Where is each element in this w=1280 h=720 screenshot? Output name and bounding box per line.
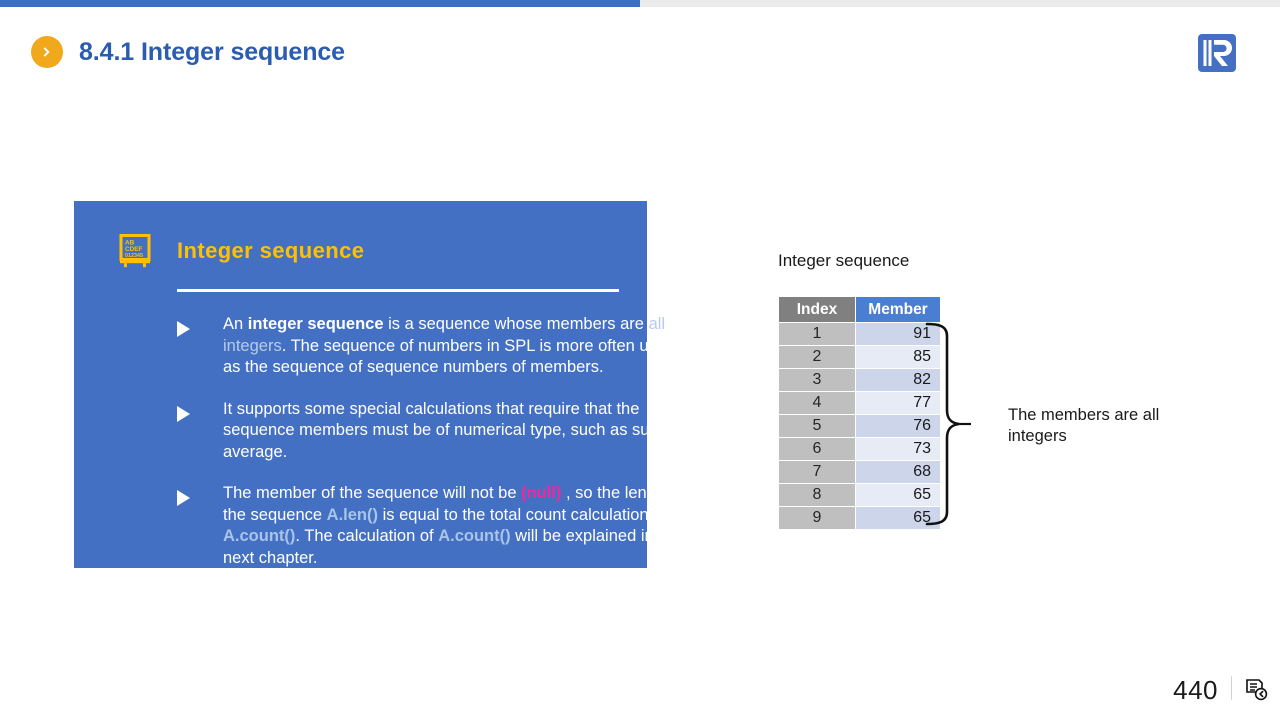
bullet-text-fragment: . The sequence of numbers in SPL is more… bbox=[223, 337, 675, 377]
table-row: 673 bbox=[779, 438, 941, 461]
column-header-index: Index bbox=[779, 297, 856, 323]
concept-card: AB CDEF 012345 Integer sequence An integ… bbox=[74, 201, 647, 568]
slide-progress-track bbox=[0, 0, 1280, 7]
cell-index: 2 bbox=[779, 346, 856, 369]
annotation-text: The members are all integers bbox=[1008, 405, 1193, 447]
illustration-caption: Integer sequence bbox=[778, 251, 909, 271]
table-row: 382 bbox=[779, 369, 941, 392]
page-title: 8.4.1 Integer sequence bbox=[79, 38, 345, 67]
bullet-text-fragment: An bbox=[223, 315, 248, 333]
concept-bullet-text: An integer sequence is a sequence whose … bbox=[223, 314, 689, 379]
cell-index: 5 bbox=[779, 415, 856, 438]
chevron-right-circle-icon bbox=[31, 36, 63, 68]
cell-index: 3 bbox=[779, 369, 856, 392]
table-row: 865 bbox=[779, 484, 941, 507]
table-row: 768 bbox=[779, 461, 941, 484]
concept-bullet: An integer sequence is a sequence whose … bbox=[177, 314, 689, 379]
column-header-member: Member bbox=[856, 297, 941, 323]
svg-text:012345: 012345 bbox=[125, 253, 143, 259]
cell-index: 8 bbox=[779, 484, 856, 507]
board-abc-icon: AB CDEF 012345 bbox=[117, 234, 155, 268]
bullet-text-fragment: integer sequence bbox=[248, 315, 384, 333]
cell-index: 9 bbox=[779, 507, 856, 530]
concept-bullet-list: An integer sequence is a sequence whose … bbox=[177, 314, 689, 569]
concept-card-title: Integer sequence bbox=[177, 238, 364, 264]
bullet-text-fragment: is equal to the total count calculation bbox=[378, 506, 649, 524]
cell-index: 4 bbox=[779, 392, 856, 415]
table-row: 576 bbox=[779, 415, 941, 438]
concept-bullet-text: The member of the sequence will not be (… bbox=[223, 483, 689, 569]
sequence-table: Index Member 191285382477576673768865965 bbox=[778, 296, 941, 530]
page-number: 440 bbox=[1173, 675, 1218, 706]
bullet-text-fragment: It supports some special calculations th… bbox=[223, 400, 682, 461]
bullet-text-fragment: The member of the sequence will not be bbox=[223, 484, 521, 502]
bullet-text-fragment: A.count() bbox=[223, 527, 295, 545]
footer-divider bbox=[1231, 676, 1232, 700]
bullet-text-fragment: is a sequence whose members are bbox=[384, 315, 649, 333]
bullet-text-fragment: A.len() bbox=[327, 506, 378, 524]
triangle-right-icon bbox=[177, 406, 190, 422]
concept-card-divider bbox=[177, 289, 619, 292]
triangle-right-icon bbox=[177, 490, 190, 506]
concept-bullet-text: It supports some special calculations th… bbox=[223, 399, 689, 464]
table-header-row: Index Member bbox=[779, 297, 941, 323]
concept-card-header: AB CDEF 012345 Integer sequence bbox=[74, 201, 647, 268]
curly-brace-icon bbox=[925, 322, 971, 526]
cell-index: 1 bbox=[779, 323, 856, 346]
document-back-icon[interactable] bbox=[1244, 678, 1268, 702]
cell-index: 7 bbox=[779, 461, 856, 484]
bullet-text-fragment: . The calculation of bbox=[295, 527, 438, 545]
svg-text:CDEF: CDEF bbox=[125, 246, 142, 253]
bullet-text-fragment: (null) bbox=[521, 484, 561, 502]
table-row: 285 bbox=[779, 346, 941, 369]
table-row: 965 bbox=[779, 507, 941, 530]
slide-progress-fill bbox=[0, 0, 640, 7]
table-row: 477 bbox=[779, 392, 941, 415]
bullet-text-fragment: A.count() bbox=[438, 527, 510, 545]
slide-title: 8.4.1 Integer sequence bbox=[31, 36, 345, 68]
cell-index: 6 bbox=[779, 438, 856, 461]
raqsoft-r-logo bbox=[1195, 31, 1239, 75]
concept-bullet: The member of the sequence will not be (… bbox=[177, 483, 689, 569]
concept-bullet: It supports some special calculations th… bbox=[177, 399, 689, 464]
table-row: 191 bbox=[779, 323, 941, 346]
triangle-right-icon bbox=[177, 321, 190, 337]
